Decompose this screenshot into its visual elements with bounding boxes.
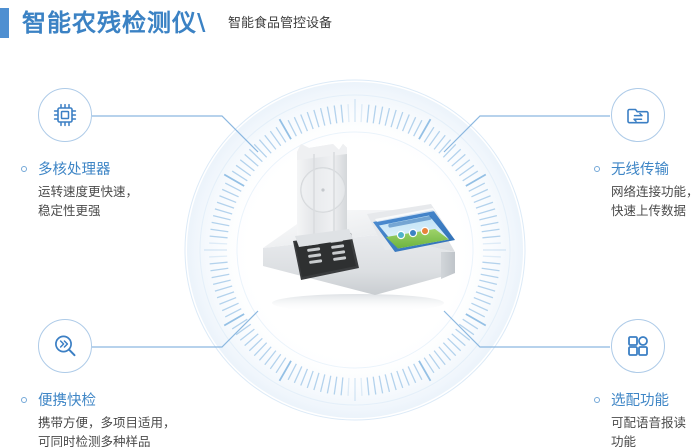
magnifier-fast-icon-circle[interactable] bbox=[38, 319, 92, 373]
feature-heading: 选配功能 bbox=[611, 389, 669, 410]
magnifier-fast-icon bbox=[52, 333, 78, 359]
feature-portable-rapid-test: 便携快检 携带方便，多项目适用， 可同时检测多种样品 bbox=[10, 319, 230, 439]
page-header: 智能农残检测仪 \ 智能食品管控设备 bbox=[0, 8, 700, 40]
feature-line-1: 运转速度更快速， bbox=[38, 182, 138, 201]
chip-icon bbox=[52, 102, 78, 128]
device-illustration bbox=[255, 140, 460, 312]
feature-wireless-transmission: 无线传输 网络连接功能， 快速上传数据 bbox=[583, 88, 700, 208]
promo-banner: 智能农残检测仪 \ 智能食品管控设备 bbox=[0, 0, 700, 447]
feature-heading: 无线传输 bbox=[611, 158, 669, 179]
header-accent-bar bbox=[0, 8, 9, 38]
feature-line-2: 快速上传数据 bbox=[611, 201, 686, 220]
feature-bullet bbox=[21, 166, 27, 172]
feature-bullet bbox=[594, 397, 600, 403]
title-slash-mark: \ bbox=[197, 7, 205, 39]
page-title: 智能农残检测仪 bbox=[22, 7, 197, 39]
feature-bullet bbox=[594, 166, 600, 172]
feature-line-2: 功能 bbox=[611, 432, 636, 447]
feature-line-2: 可同时检测多种样品 bbox=[38, 432, 151, 447]
chip-icon-circle[interactable] bbox=[38, 88, 92, 142]
feature-line-1: 网络连接功能， bbox=[611, 182, 699, 201]
page-subtitle: 智能食品管控设备 bbox=[228, 12, 332, 36]
feature-heading: 多核处理器 bbox=[38, 158, 111, 179]
grid-apps-icon bbox=[625, 333, 651, 359]
feature-heading: 便携快检 bbox=[38, 389, 96, 410]
feature-bullet bbox=[21, 397, 27, 403]
feature-line-1: 携带方便，多项目适用， bbox=[38, 413, 176, 432]
feature-line-2: 稳定性更强 bbox=[38, 201, 101, 220]
feature-multi-core-processor: 多核处理器 运转速度更快速， 稳定性更强 bbox=[10, 88, 210, 208]
feature-line-1: 可配语音报读 bbox=[611, 413, 686, 432]
folder-transfer-icon bbox=[625, 102, 651, 128]
folder-transfer-icon-circle[interactable] bbox=[611, 88, 665, 142]
grid-apps-icon-circle[interactable] bbox=[611, 319, 665, 373]
feature-optional-functions: 选配功能 可配语音报读 功能 bbox=[583, 319, 700, 439]
